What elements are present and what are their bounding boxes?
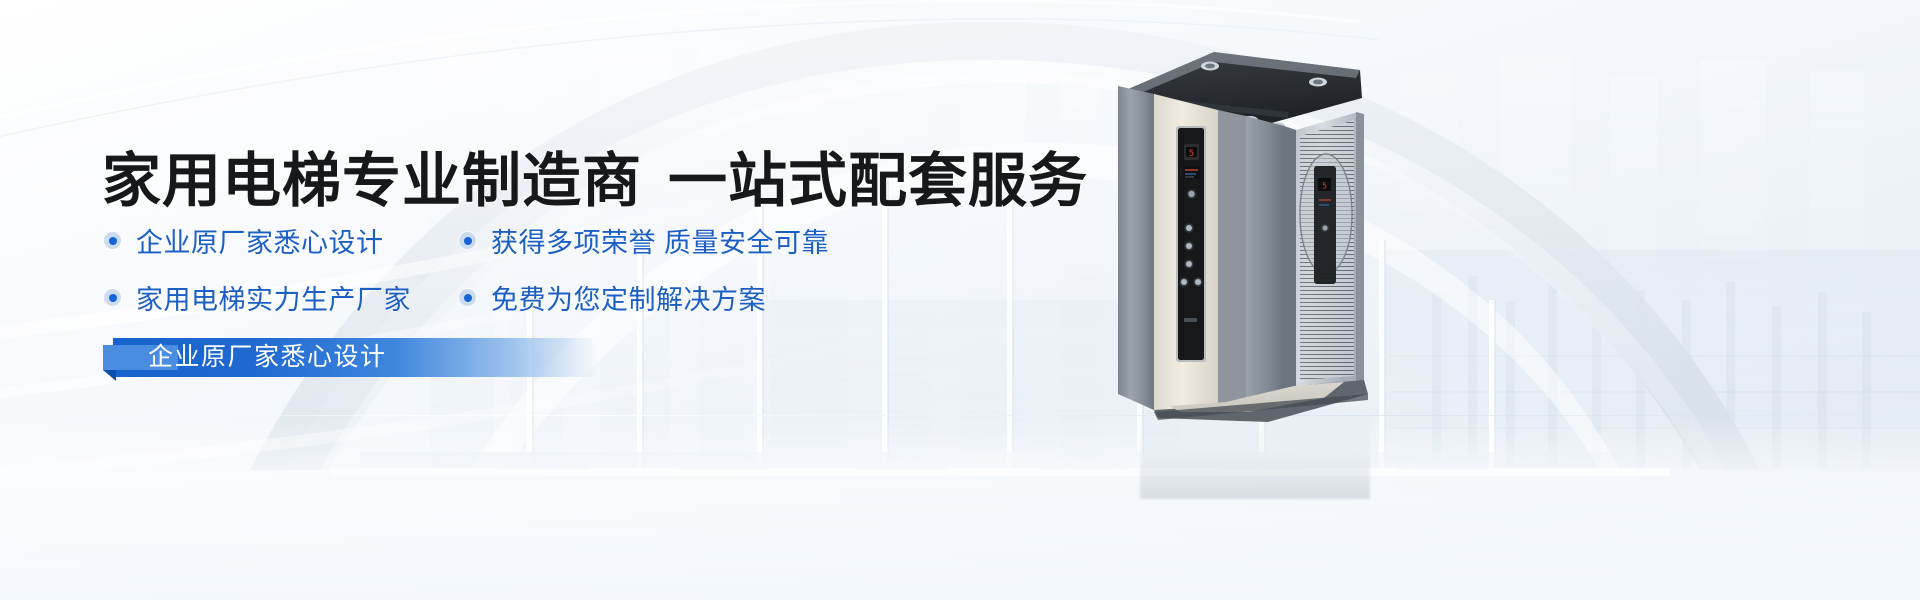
feature-label: 家用电梯实力生产厂家 — [136, 278, 411, 317]
headline-part-2: 一站式配套服务 — [668, 148, 1088, 214]
cabin-left-wall — [1118, 86, 1154, 410]
promotional-banner: 5 — [0, 0, 1920, 600]
cabin-glass-door: 5 — [1296, 112, 1364, 386]
elevator-cabin-image: 5 — [1118, 38, 1368, 423]
bullet-dot-icon — [104, 232, 121, 249]
feature-list: 企业原厂家悉心设计 获得多项荣誉 质量安全可靠 家用电梯实力生产厂家 免费为您定… — [104, 212, 964, 326]
feature-row: 家用电梯实力生产厂家 免费为您定制解决方案 — [104, 269, 964, 326]
feature-item-4: 免费为您定制解决方案 — [459, 278, 766, 317]
feature-row: 企业原厂家悉心设计 获得多项荣誉 质量安全可靠 — [104, 212, 964, 269]
feature-label: 获得多项荣誉 质量安全可靠 — [491, 221, 829, 260]
feature-item-1: 企业原厂家悉心设计 — [104, 221, 459, 260]
bullet-dot-icon — [104, 289, 121, 306]
feature-label: 企业原厂家悉心设计 — [136, 221, 384, 260]
highlight-ribbon-tag[interactable]: 企业原厂家悉心设计 — [113, 338, 598, 377]
banner-headline: 家用电梯专业制造商一站式配套服务 — [102, 152, 1088, 211]
cabin-mid-column — [1218, 110, 1246, 406]
svg-text:5: 5 — [1322, 182, 1327, 191]
bullet-dot-icon — [459, 232, 476, 249]
cabin-back-wall — [1246, 116, 1284, 398]
elevator-control-panel: 5 — [1176, 126, 1206, 362]
headline-part-1: 家用电梯专业制造商 — [102, 148, 642, 214]
ribbon-label: 企业原厂家悉心设计 — [148, 338, 387, 377]
feature-label: 免费为您定制解决方案 — [491, 278, 766, 317]
svg-text:5: 5 — [1189, 149, 1194, 159]
feature-item-3: 家用电梯实力生产厂家 — [104, 278, 459, 317]
feature-item-2: 获得多项荣誉 质量安全可靠 — [459, 221, 829, 260]
bullet-dot-icon — [459, 289, 476, 306]
banner-content: 家用电梯专业制造商一站式配套服务 企业原厂家悉心设计 获得多项荣誉 质量安全可靠… — [0, 0, 1100, 600]
